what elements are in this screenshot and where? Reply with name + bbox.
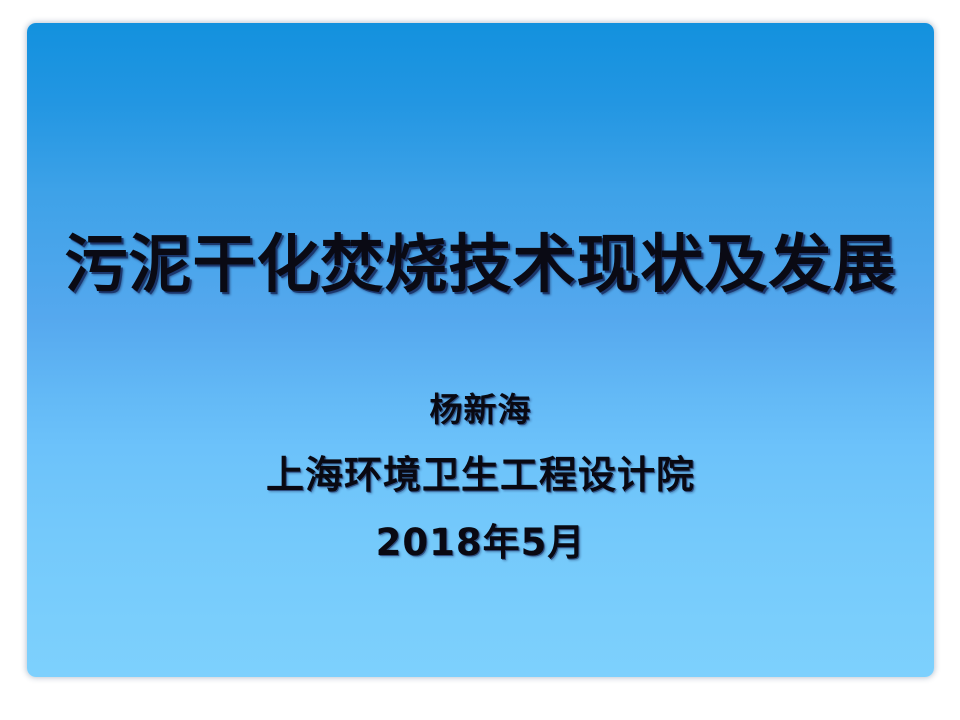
subtitle-block: 杨新海 上海环境卫生工程设计院 2018年5月 [27,393,934,561]
presenter-name: 杨新海 [27,393,934,426]
slide-title: 污泥干化焚烧技术现状及发展 [65,231,897,299]
slide-page-background: 污泥干化焚烧技术现状及发展 杨新海 上海环境卫生工程设计院 2018年5月 [0,0,960,720]
organization-name: 上海环境卫生工程设计院 [27,456,934,494]
presentation-slide: 污泥干化焚烧技术现状及发展 杨新海 上海环境卫生工程设计院 2018年5月 [27,23,934,677]
title-block: 污泥干化焚烧技术现状及发展 [27,231,934,299]
slide-content-area: 污泥干化焚烧技术现状及发展 杨新海 上海环境卫生工程设计院 2018年5月 [27,23,934,677]
presentation-date: 2018年5月 [27,524,934,561]
